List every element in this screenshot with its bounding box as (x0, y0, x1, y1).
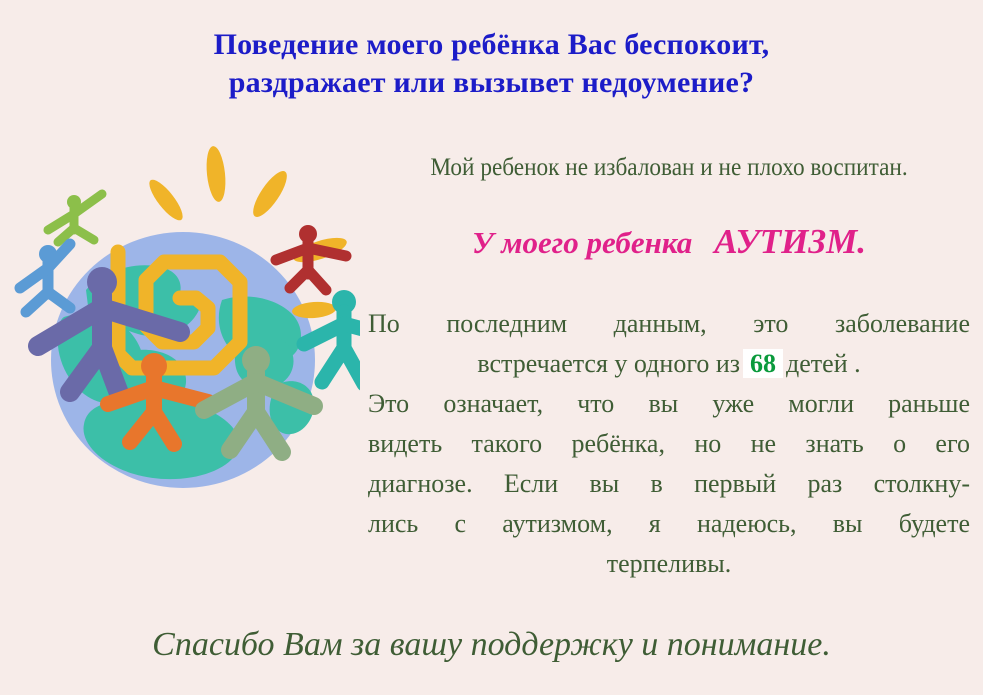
paragraph-line-5: диагнозе. Если вы в первый раз столкну- (368, 464, 970, 504)
statistic-badge: 68 (743, 349, 783, 378)
autism-headline: У моего ребенкаАУТИЗМ. (368, 222, 970, 262)
paragraph-line-3: Это означает, что вы уже могли раньше (368, 384, 970, 424)
paragraph-line-4: видеть такого ребёнка, но не знать о его (368, 424, 970, 464)
paragraph-line-6: лись с аутизмом, я надеюсь, вы будете (368, 504, 970, 544)
figure-blue-icon (20, 244, 70, 312)
title-line-2: раздражает или вызывет недоумение? (0, 64, 983, 102)
page-title: Поведение моего ребёнка Вас беспокоит, р… (0, 26, 983, 102)
poster-root: Поведение моего ребёнка Вас беспокоит, р… (0, 0, 983, 695)
paragraph-line-2-after: детей . (786, 349, 861, 378)
globe-with-children-illustration (8, 142, 360, 498)
sun-ray-2 (144, 175, 187, 224)
paragraph-line-2-before: встречается у одного из (477, 349, 740, 378)
sun-ray-3 (247, 167, 292, 222)
title-line-1: Поведение моего ребёнка Вас беспокоит, (0, 26, 983, 64)
autism-word-text: АУТИЗМ. (714, 222, 866, 261)
statement-line: Мой ребенок не избалован и не плохо восп… (389, 152, 949, 184)
explanation-paragraph: По последним данным, это заболевание вст… (368, 304, 970, 584)
paragraph-line-1: По последним данным, это заболевание (368, 304, 970, 344)
paragraph-line-7: терпеливы. (368, 544, 970, 584)
thank-you-line: Спасибо Вам за вашу поддержку и понимани… (0, 626, 983, 664)
paragraph-line-2: встречается у одного из68детей . (368, 344, 970, 384)
message-text-column: Мой ребенок не избалован и не плохо восп… (368, 152, 970, 584)
autism-lead-text: У моего ребенка (472, 225, 692, 260)
sun-ray-1 (204, 145, 228, 203)
figure-darkred-icon (276, 225, 346, 290)
figure-green-icon (48, 194, 102, 242)
